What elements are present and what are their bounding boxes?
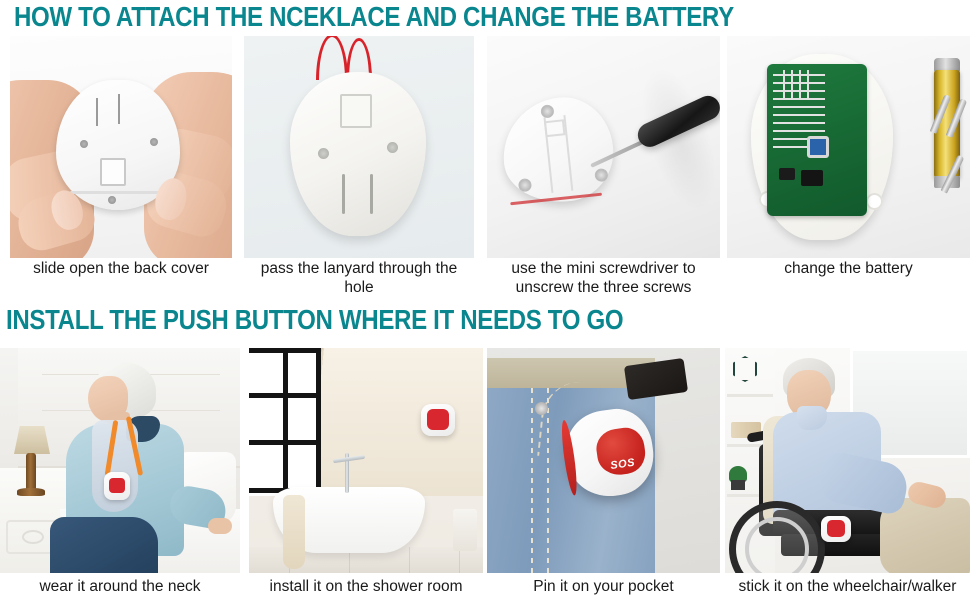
caption-wear-around-neck: wear it around the neck bbox=[0, 577, 240, 596]
photo-mini-screwdriver bbox=[487, 36, 720, 258]
sos-pendant bbox=[104, 472, 130, 500]
caption-change-battery: change the battery bbox=[727, 259, 970, 278]
photo-sos-on-jeans-pocket: SOS bbox=[487, 348, 720, 573]
step-image-change-battery bbox=[727, 36, 970, 258]
photo-bathroom-install bbox=[249, 348, 483, 573]
towel bbox=[283, 495, 305, 569]
caption-pass-lanyard: pass the lanyard through the hole bbox=[244, 259, 474, 297]
steps-row-necklace-battery bbox=[0, 36, 970, 258]
photo-woman-wearing-pendant bbox=[0, 348, 240, 573]
product-infographic: HOW TO ATTACH THE NCEKLACE AND CHANGE TH… bbox=[0, 0, 970, 600]
pcb-tact-button bbox=[807, 136, 829, 158]
caption-pin-on-pocket: Pin it on your pocket bbox=[487, 577, 720, 596]
step-image-pin-on-pocket: SOS bbox=[487, 348, 720, 573]
photo-lanyard-through-hole bbox=[244, 36, 474, 258]
step-image-unscrew-screws bbox=[487, 36, 720, 258]
caption-shower-room: install it on the shower room bbox=[249, 577, 483, 596]
belt bbox=[624, 358, 688, 400]
caption-wheelchair: stick it on the wheelchair/walker bbox=[725, 577, 970, 596]
wall-mounted-sos-button bbox=[421, 404, 455, 436]
circuit-board bbox=[767, 64, 867, 216]
captions-row-necklace-battery: slide open the back cover pass the lanya… bbox=[0, 259, 970, 299]
sos-button-on-armrest[interactable] bbox=[821, 516, 851, 542]
photo-pcb-and-battery bbox=[727, 36, 970, 258]
lanyard-hole bbox=[340, 94, 372, 128]
section-heading-install-push-button: INSTALL THE PUSH BUTTON WHERE IT NEEDS T… bbox=[6, 305, 623, 335]
section-heading-necklace-battery: HOW TO ATTACH THE NCEKLACE AND CHANGE TH… bbox=[14, 2, 734, 32]
caption-unscrew-screws: use the mini screwdriver to unscrew the … bbox=[487, 259, 720, 297]
steps-row-install-push-button: SOS bbox=[0, 348, 970, 573]
photo-man-in-wheelchair bbox=[725, 348, 970, 573]
table-lamp bbox=[14, 426, 50, 454]
step-image-shower-room bbox=[249, 348, 483, 573]
step-image-wear-around-neck bbox=[0, 348, 240, 573]
caption-slide-open-back-cover: slide open the back cover bbox=[10, 259, 232, 278]
sos-button-face[interactable]: SOS bbox=[594, 425, 648, 477]
window-grid bbox=[249, 348, 321, 496]
captions-row-install-push-button: wear it around the neck install it on th… bbox=[0, 577, 970, 600]
photo-hands-sliding-cover bbox=[10, 36, 232, 258]
sos-button-label: SOS bbox=[610, 457, 636, 472]
step-image-pass-lanyard bbox=[244, 36, 474, 258]
step-image-wheelchair bbox=[725, 348, 970, 573]
coil-trace bbox=[783, 70, 817, 104]
step-image-slide-open-back-cover bbox=[10, 36, 232, 258]
